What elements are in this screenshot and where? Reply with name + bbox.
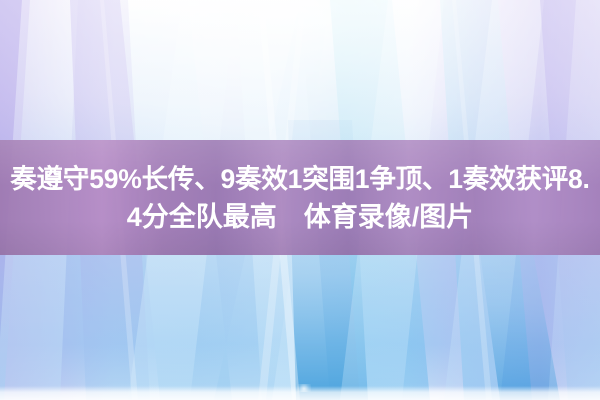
headline-band: 奏遵守59%长传、9奏效1突围1争顶、1奏效获评8. 4分全队最高 体育录像/图… [0,140,600,255]
headline-line-2: 4分全队最高 体育录像/图片 [0,199,600,235]
bottom-watermark-mark [297,384,311,392]
headline-line-1: 奏遵守59%长传、9奏效1突围1争顶、1奏效获评8. [0,161,600,197]
banner-image: 奏遵守59%长传、9奏效1突围1争顶、1奏效获评8. 4分全队最高 体育录像/图… [0,0,600,400]
